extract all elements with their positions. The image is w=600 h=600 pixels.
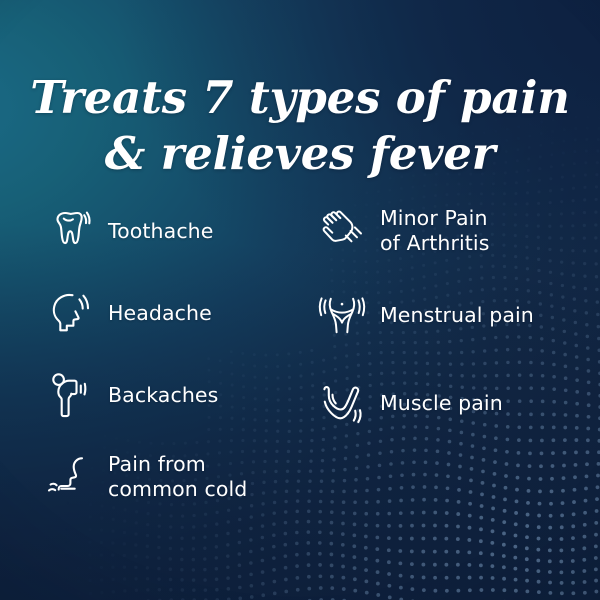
list-item-label: Toothache <box>108 219 214 244</box>
hand-icon <box>316 205 368 257</box>
list-item-label: Minor Pain of Arthritis <box>380 206 490 256</box>
headline-line-2: & relieves fever <box>0 126 600 182</box>
list-item-label: Muscle pain <box>380 391 503 416</box>
list-item-arthritis: Minor Pain of Arthritis <box>316 202 586 260</box>
nose-cold-icon <box>44 451 96 503</box>
tooth-icon <box>44 205 96 257</box>
list-item-backaches: Backaches <box>44 366 294 424</box>
list-item-toothache: Toothache <box>44 202 294 260</box>
pain-list-right-column: Minor Pain of Arthritis Menstrual pain <box>316 202 586 454</box>
headline-line-1: Treats 7 types of pain <box>0 70 600 126</box>
page-title: Treats 7 types of pain & relieves fever <box>0 70 600 182</box>
list-item-label: Menstrual pain <box>380 303 534 328</box>
list-item-muscle-pain: Muscle pain <box>316 374 586 432</box>
head-icon <box>44 287 96 339</box>
list-item-label: Headache <box>108 301 212 326</box>
list-item-label: Backaches <box>108 383 218 408</box>
list-item-headache: Headache <box>44 284 294 342</box>
bicep-icon <box>316 377 368 429</box>
hip-bone-icon <box>44 369 96 421</box>
pain-list-left-column: Toothache Headache <box>44 202 294 528</box>
list-item-menstrual-pain: Menstrual pain <box>316 286 586 344</box>
pain-relief-poster: Treats 7 types of pain & relieves fever … <box>0 0 600 600</box>
list-item-common-cold: Pain from common cold <box>44 448 294 506</box>
pelvis-icon <box>316 289 368 341</box>
list-item-label: Pain from common cold <box>108 452 247 502</box>
